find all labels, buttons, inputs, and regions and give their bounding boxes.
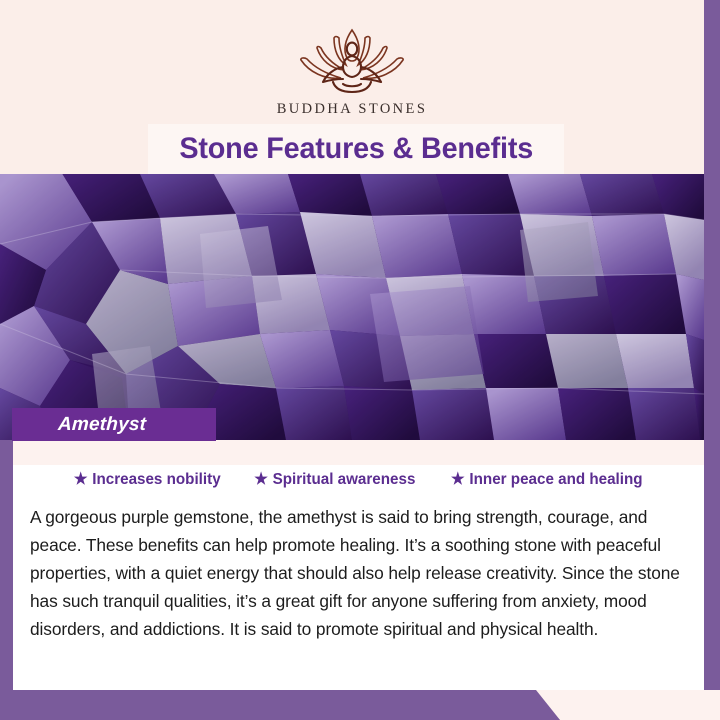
benefit-item: ★ Spiritual awareness <box>254 471 415 489</box>
stone-description: A gorgeous purple gemstone, the amethyst… <box>30 503 680 643</box>
bottom-purple-band-accent <box>0 690 560 720</box>
stone-name-label: Amethyst <box>57 414 146 436</box>
star-icon: ★ <box>254 472 268 488</box>
infographic-page: BUDDHA STONES Stone Features & Benefits <box>0 0 720 720</box>
amethyst-crystal-cluster-graphic <box>0 174 704 440</box>
page-title-box: Stone Features & Benefits <box>148 124 564 174</box>
stone-name-tag: Amethyst <box>12 408 216 441</box>
amethyst-photo <box>0 174 704 440</box>
benefit-label: Increases nobility <box>92 471 220 489</box>
star-icon: ★ <box>73 472 87 488</box>
left-purple-bar <box>0 440 13 720</box>
benefit-label: Inner peace and healing <box>469 471 642 489</box>
benefit-item: ★ Inner peace and healing <box>451 471 643 489</box>
benefit-item: ★ Increases nobility <box>73 471 220 489</box>
brand-logo: BUDDHA STONES <box>0 24 704 118</box>
benefits-list: ★ Increases nobility ★ Spiritual awarene… <box>13 466 704 494</box>
page-title: Stone Features & Benefits <box>179 132 533 166</box>
star-icon: ★ <box>451 472 465 488</box>
content-panel-tint <box>13 440 704 465</box>
benefit-label: Spiritual awareness <box>273 471 416 489</box>
lotus-meditation-icon <box>277 24 427 96</box>
header-section: BUDDHA STONES Stone Features & Benefits <box>0 0 704 174</box>
right-purple-bar <box>704 0 720 690</box>
brand-name: BUDDHA STONES <box>277 101 428 118</box>
